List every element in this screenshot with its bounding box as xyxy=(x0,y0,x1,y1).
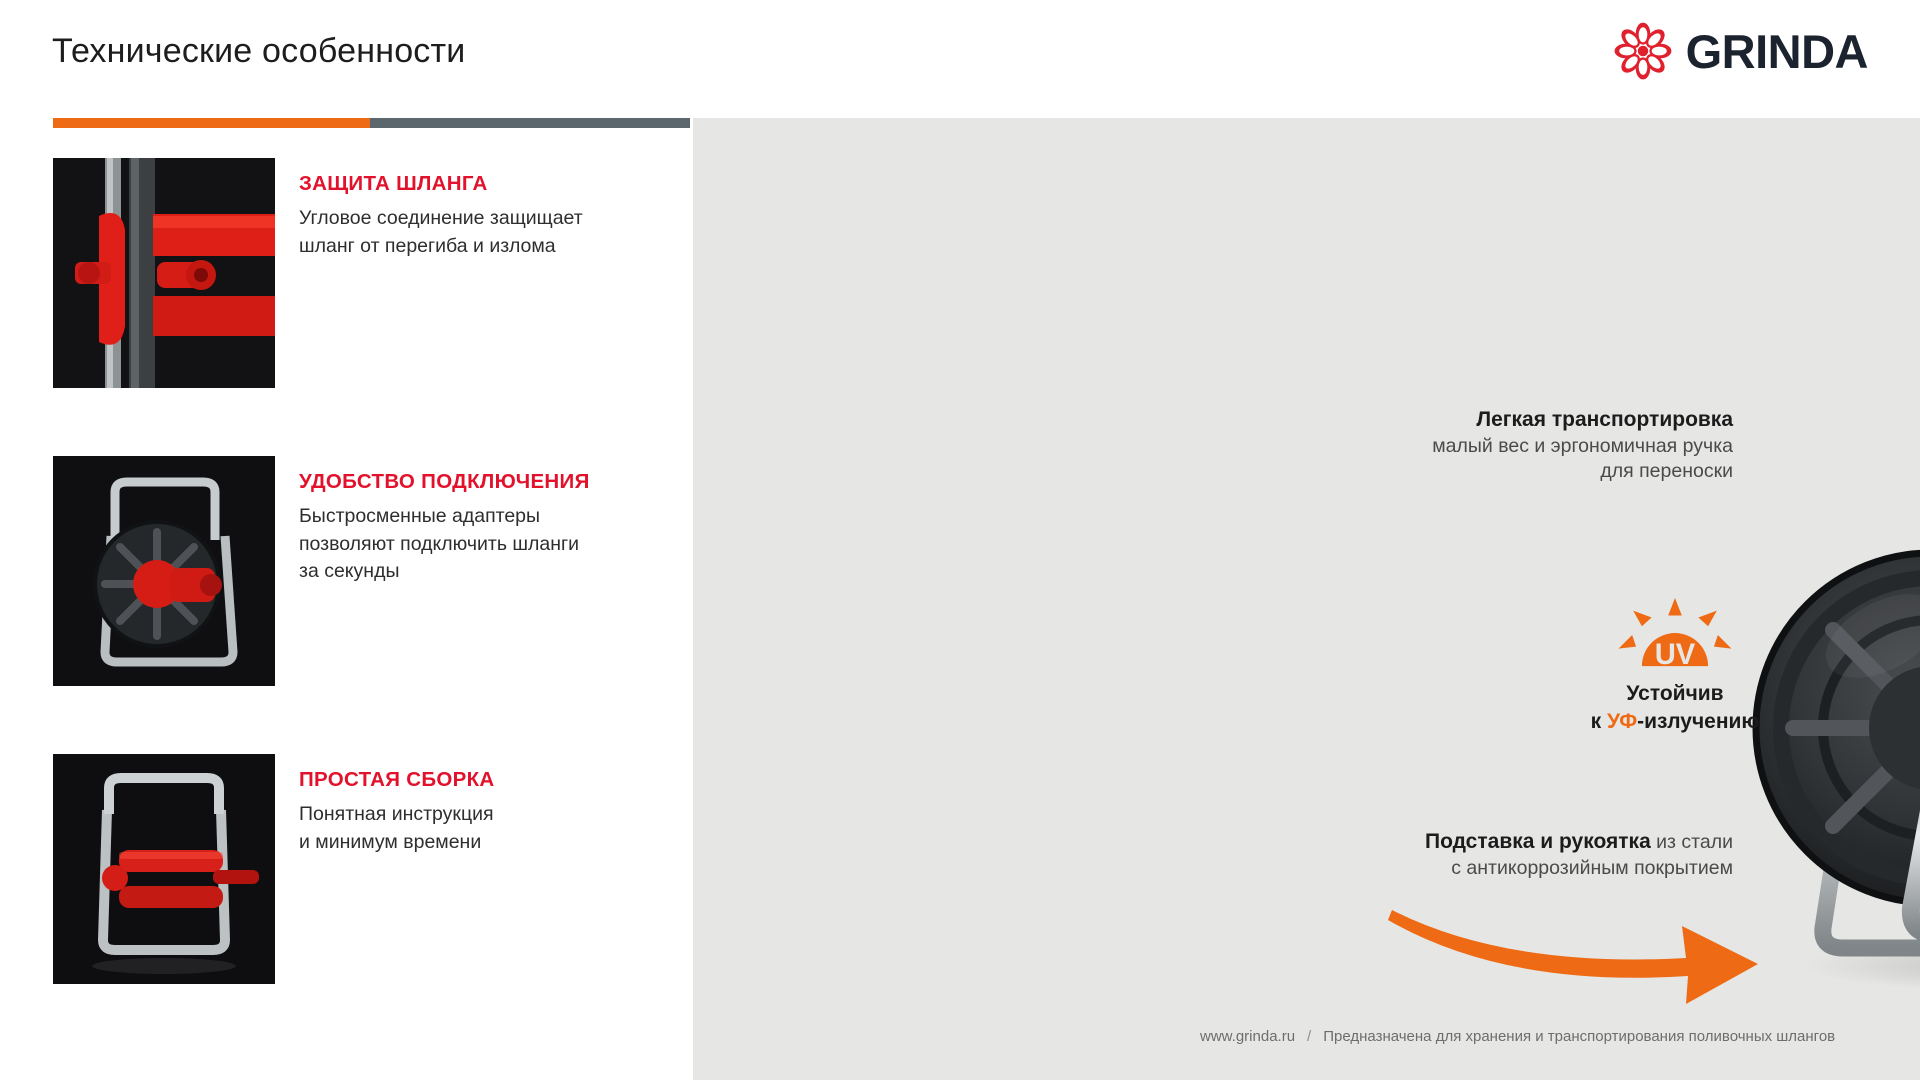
callout-uv-accent: УФ xyxy=(1607,710,1637,733)
callout-uv-line2: к УФ-излучению xyxy=(1555,708,1795,736)
feature-item: ПРОСТАЯ СБОРКА Понятная инструкция и мин… xyxy=(53,754,673,984)
hose-connector-photo xyxy=(53,158,275,388)
callout-stand-title: Подставка и рукоятка xyxy=(1425,830,1651,853)
feature-item: ЗАЩИТА ШЛАНГА Угловое соединение защищае… xyxy=(53,158,673,388)
feature-description: Понятная инструкция и минимум времени xyxy=(299,801,495,856)
feature-list: ЗАЩИТА ШЛАНГА Угловое соединение защищае… xyxy=(53,158,673,984)
grinda-flower-icon xyxy=(1614,22,1672,80)
footer: www.grinda.ru/Предназначена для хранения… xyxy=(1200,1028,1835,1045)
brand-name: GRINDA xyxy=(1686,28,1868,75)
feature-description: Угловое соединение защищает шланг от пер… xyxy=(299,205,583,260)
callout-uv-line1: Устойчив xyxy=(1555,680,1795,708)
feature-description: Быстросменные адаптеры позволяют подключ… xyxy=(299,503,590,586)
divider-orange-segment xyxy=(53,118,370,128)
divider-gray-segment xyxy=(370,118,690,128)
feature-title: ПРОСТАЯ СБОРКА xyxy=(299,768,495,792)
callout-transport-title: Легкая транспортировка xyxy=(1393,406,1733,434)
callout-stand: Подставка и рукоятка из стали с антикорр… xyxy=(1383,828,1733,881)
uv-icon-label: UV xyxy=(1655,639,1696,671)
feature-item: УДОБСТВО ПОДКЛЮЧЕНИЯ Быстросменные адапт… xyxy=(53,456,673,686)
product-panel: GRINDA Легкая транспортировка малый вес … xyxy=(693,118,1920,1080)
feature-title: УДОБСТВО ПОДКЛЮЧЕНИЯ xyxy=(299,470,590,494)
footer-tagline: Предназначена для хранения и транспортир… xyxy=(1323,1028,1835,1045)
arrow-to-stand-icon xyxy=(1386,898,1766,1018)
accent-divider xyxy=(53,118,690,128)
callout-stand-sub: с антикоррозийным покрытием xyxy=(1383,856,1733,882)
page-title: Технические особенности xyxy=(52,32,465,71)
hose-reel-front-photo xyxy=(53,456,275,686)
callout-transport-line2: для переноски xyxy=(1393,459,1733,485)
uv-sun-icon: UV xyxy=(1616,598,1734,672)
callout-uv-prefix: к xyxy=(1591,710,1607,733)
callout-uv-resistant: UV Устойчив к УФ-излучению xyxy=(1555,598,1795,735)
brand-logo: GRINDA xyxy=(1614,22,1868,80)
callout-transport: Легкая транспортировка малый вес и эргон… xyxy=(1393,406,1733,485)
feature-title: ЗАЩИТА ШЛАНГА xyxy=(299,172,583,196)
footer-separator: / xyxy=(1307,1028,1311,1045)
hose-reel-frame-photo xyxy=(53,754,275,984)
footer-site[interactable]: www.grinda.ru xyxy=(1200,1028,1295,1045)
callout-uv-suffix: -излучению xyxy=(1637,710,1759,733)
callout-stand-line1: Подставка и рукоятка из стали xyxy=(1383,828,1733,856)
callout-stand-title-tail: из стали xyxy=(1651,831,1733,853)
slide-root: Технические особенности xyxy=(0,0,1920,1080)
callout-transport-line1: малый вес и эргономичная ручка xyxy=(1393,434,1733,460)
